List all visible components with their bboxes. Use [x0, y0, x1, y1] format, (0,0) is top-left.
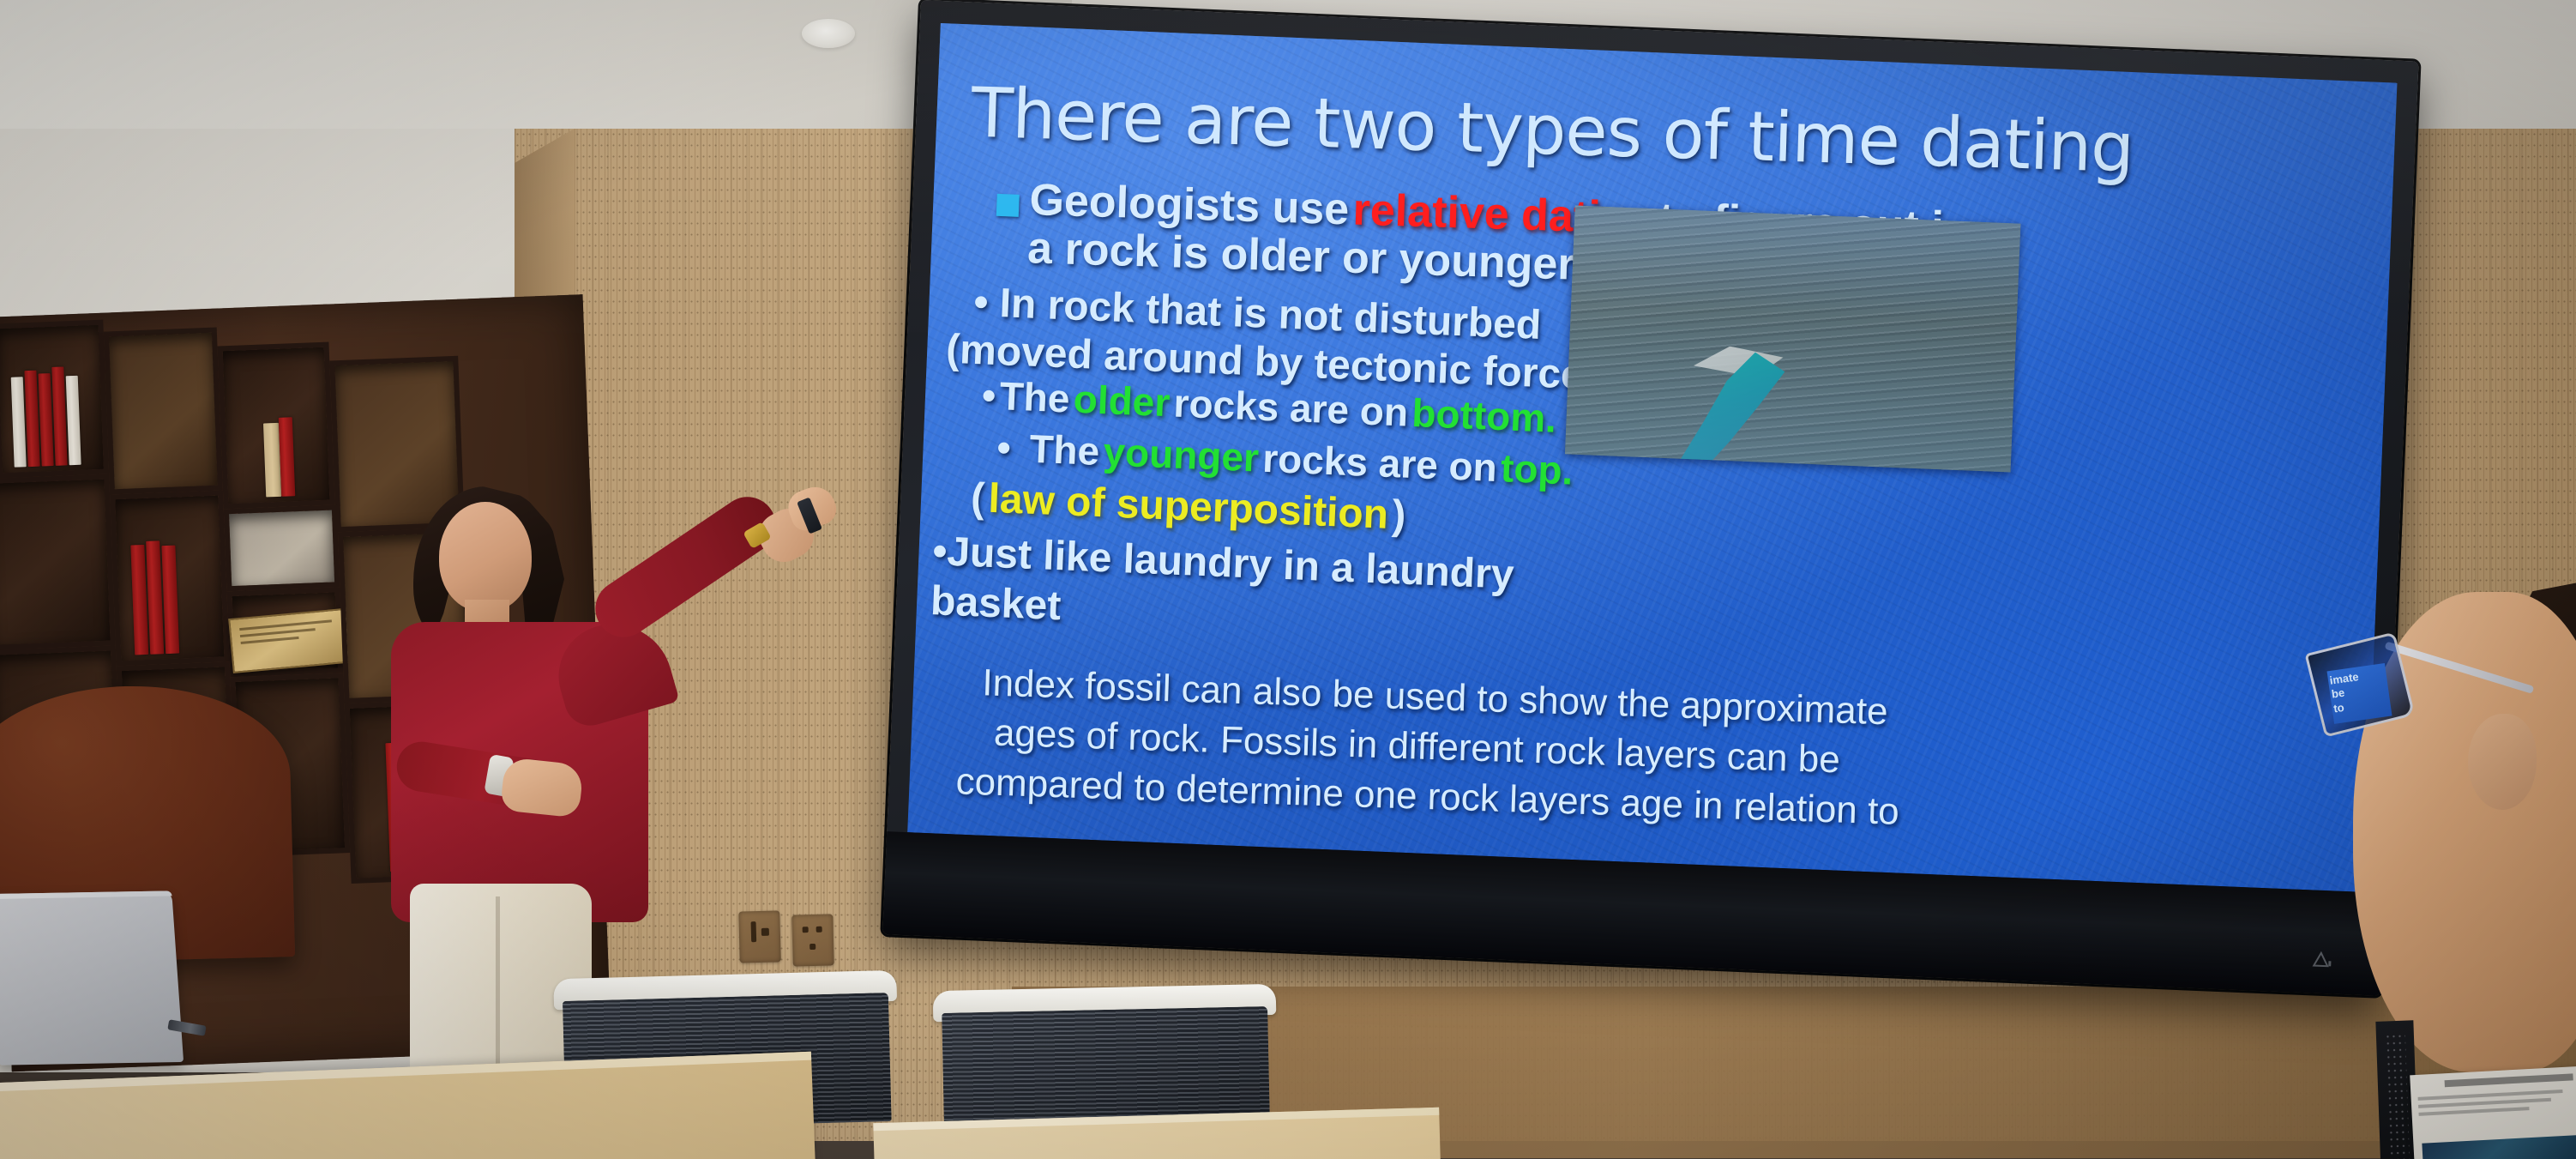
presentation-room-photo: There are two types of time dating Geolo… [0, 0, 2576, 1159]
presentation-display[interactable]: There are two types of time dating Geolo… [882, 0, 2418, 996]
slide-bullet-6-line-2: basket [930, 581, 1062, 627]
canyon-photo [1565, 205, 2020, 472]
poster-body-text [2418, 1089, 2576, 1120]
cubby [110, 490, 230, 666]
bullet-square-icon [996, 194, 1020, 217]
poster-image [2422, 1135, 2576, 1159]
slide-content: There are two types of time dating Geolo… [907, 23, 2397, 892]
lens-reflection-text: imate be to [2329, 666, 2394, 715]
photo-color-cast [1565, 205, 2020, 472]
cubby [104, 328, 223, 495]
ceiling-downlight-icon [802, 19, 855, 48]
cubby [224, 504, 340, 591]
cubby [217, 342, 334, 510]
laptop[interactable] [0, 890, 184, 1065]
cubby [0, 320, 109, 479]
slide-bullet-5: ( law of superposition ) [970, 478, 1406, 537]
cubby [226, 587, 343, 677]
cubby [0, 474, 116, 650]
presenter-head [439, 502, 532, 612]
wall-poster [2410, 1066, 2576, 1159]
poster-heading [2445, 1073, 2573, 1087]
slide-title: There are two types of time dating [970, 79, 2134, 183]
presenter-raised-arm [585, 486, 787, 648]
plaque-engraving [239, 619, 350, 662]
attendee-ear [2468, 714, 2537, 810]
display-screen[interactable]: There are two types of time dating Geolo… [907, 23, 2397, 892]
foreground-attendee: imate be to [2327, 592, 2576, 1159]
